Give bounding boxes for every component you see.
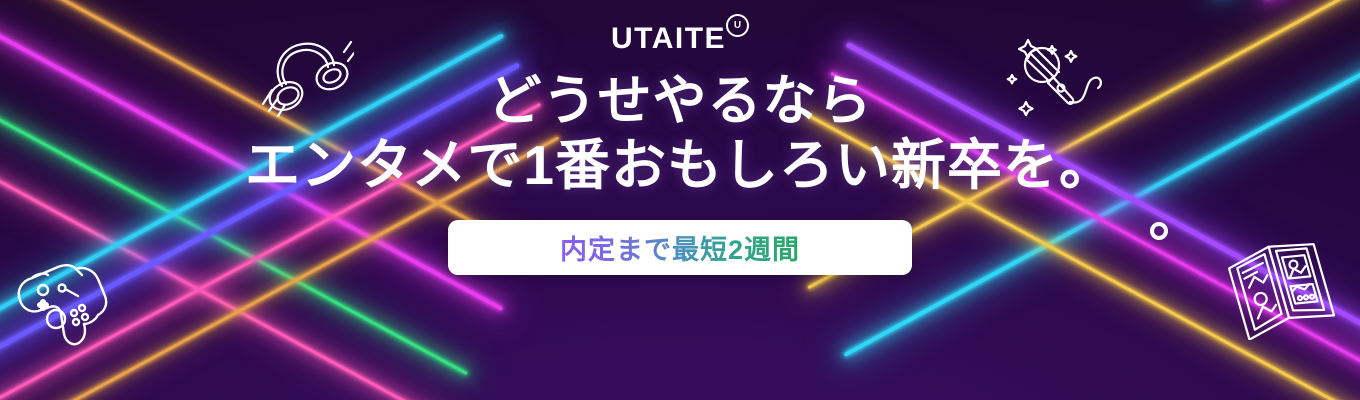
headline-line-1: どうせやるなら: [245, 70, 1115, 133]
headline-line-2: エンタメで1番おもしろい新卒を。: [245, 133, 1115, 197]
hero-banner: UTAITE U どうせやるなら エンタメで1番おもしろい新卒を。 内定まで最短…: [0, 0, 1360, 400]
banner-content: UTAITE U どうせやるなら エンタメで1番おもしろい新卒を。 内定まで最短…: [0, 0, 1360, 400]
brand-logo-text: UTAITE: [611, 22, 726, 56]
cta-button[interactable]: 内定まで最短2週間: [448, 220, 912, 275]
cta-button-label: 内定まで最短2週間: [560, 228, 800, 267]
circled-u-icon: U: [726, 14, 749, 37]
page-title: どうせやるなら エンタメで1番おもしろい新卒を。: [245, 70, 1115, 198]
brand-logo: UTAITE U: [611, 22, 749, 58]
